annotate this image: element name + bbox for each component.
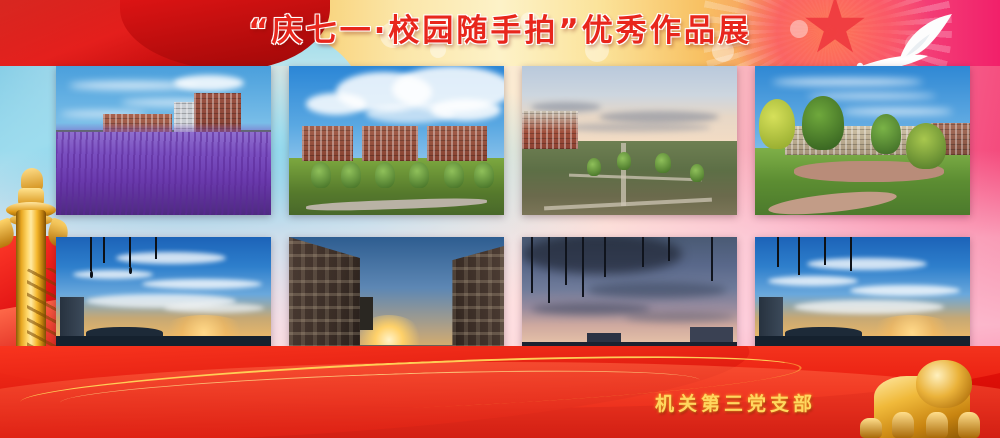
page-title: “庆七一·校园随手拍”优秀作品展 <box>0 16 1000 47</box>
cloud <box>625 312 735 322</box>
photo-2-building-right <box>427 126 487 162</box>
willow-branch <box>824 237 826 265</box>
willow-branch <box>798 237 800 275</box>
photo-card-2[interactable]: 蓝天白云下的教学楼群 <box>289 66 504 215</box>
cloud <box>531 303 651 315</box>
willow-branch <box>850 237 852 271</box>
exhibition-banner: “庆七一·校园随手拍”优秀作品展 <box>0 0 1000 438</box>
photo-2-building-center <box>362 126 418 162</box>
cloud <box>794 300 944 314</box>
tree-yellow <box>759 99 795 149</box>
cloud <box>599 111 719 123</box>
photo-card-3[interactable]: 黄昏俯瞰校园全景 <box>522 66 737 215</box>
tree <box>617 152 631 170</box>
tree <box>655 153 671 173</box>
tree <box>802 96 844 150</box>
tree <box>474 162 494 188</box>
photo-6-tower <box>360 297 373 330</box>
willow-leaf <box>129 267 132 274</box>
photo-2-building-left <box>302 126 354 162</box>
cloud-wisp <box>772 78 923 86</box>
willow-branch <box>777 237 779 267</box>
willow-branch <box>90 237 92 271</box>
willow-branch <box>711 237 713 281</box>
photo-gallery: 紫色薰衣草花海与红砖教学楼 蓝天白 <box>56 66 973 387</box>
footer-organization-name: 机关第三党支部 <box>655 389 816 416</box>
tree <box>375 162 395 188</box>
gallery-row: 紫色薰衣草花海与红砖教学楼 蓝天白 <box>56 66 973 215</box>
tree <box>690 164 704 182</box>
willow-branch <box>155 237 157 259</box>
cloud <box>850 285 960 296</box>
tree <box>587 158 601 176</box>
lion-paw <box>958 412 980 438</box>
cloud <box>561 123 711 132</box>
cloud <box>587 282 727 298</box>
willow-branch <box>129 237 131 267</box>
photo-3-building <box>522 111 578 150</box>
tree <box>444 162 464 188</box>
cloud <box>306 93 366 115</box>
tree <box>409 162 429 188</box>
photo-7-building-right <box>690 327 733 342</box>
tree <box>871 114 901 154</box>
tree <box>311 162 331 188</box>
photo-1-lavender-field <box>56 132 271 215</box>
bottom-ribbon-band <box>0 346 1000 438</box>
cloud <box>174 75 244 91</box>
huabiao-column-icon <box>4 168 60 373</box>
cloud <box>366 105 454 123</box>
cloud <box>73 270 153 279</box>
willow-branch <box>103 237 105 263</box>
photo-card-4[interactable]: 绿草如茵的校园公园 <box>755 66 970 215</box>
lion-paw <box>892 412 914 438</box>
cloud <box>116 252 226 264</box>
cloud <box>142 279 262 289</box>
lion-paw <box>860 418 882 438</box>
cloud <box>768 276 858 286</box>
lion-paw <box>926 412 948 438</box>
tree <box>341 162 361 188</box>
cloud-wisp <box>841 108 953 115</box>
cloud <box>164 303 264 313</box>
golden-lion-icon <box>848 360 988 438</box>
tree <box>906 123 946 169</box>
lion-head <box>916 360 972 408</box>
photo-card-1[interactable]: 紫色薰衣草花海与红砖教学楼 <box>56 66 271 215</box>
